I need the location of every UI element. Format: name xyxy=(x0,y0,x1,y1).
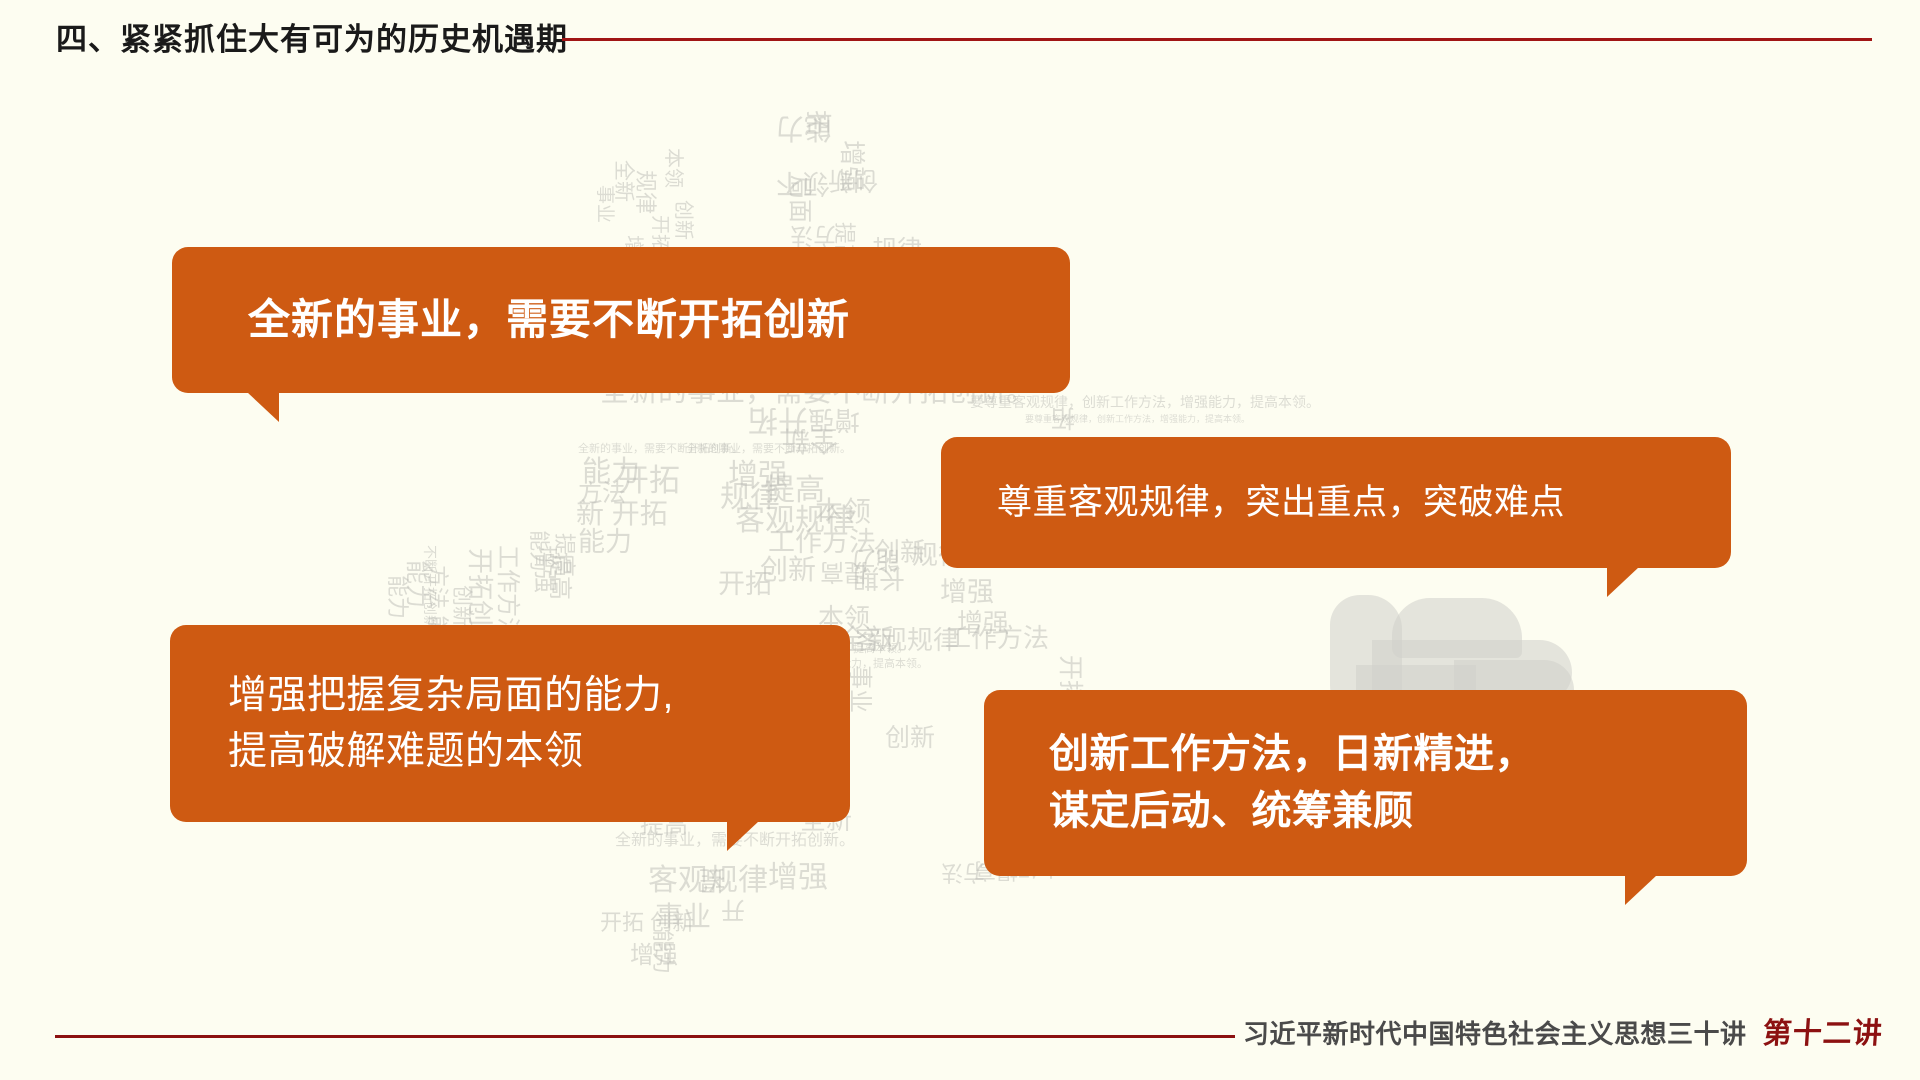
word-cloud-term: 局面 xyxy=(785,175,820,223)
word-cloud-term: 开拓 创新 xyxy=(600,905,694,937)
speech-bubble-4-text: 创新工作方法，日新精进， 谋定后动、统筹兼顾 xyxy=(1049,726,1535,840)
word-cloud-term: 增强 xyxy=(808,403,860,440)
word-cloud-term: 提高 xyxy=(545,552,580,600)
word-cloud-term: 创新 xyxy=(448,585,478,627)
word-cloud-term: 提高 xyxy=(820,557,868,592)
speech-bubble-2-tail xyxy=(1607,567,1639,597)
word-cloud-term: 新 开拓 xyxy=(576,492,668,532)
word-cloud-term: 全新的事业，需要不断开拓创新。 xyxy=(686,440,851,456)
word-cloud-term: 能力 xyxy=(582,448,640,490)
word-cloud-term: 要尊重客观规律，创新工作方法，增强能力，提高本领。 xyxy=(1025,412,1250,425)
slide-header: 四、紧紧抓住大有可为的历史机遇期 xyxy=(0,0,1920,78)
speech-bubble-1-text: 全新的事业，需要不断开拓创新 xyxy=(248,290,850,350)
word-cloud-term: 创新 xyxy=(885,718,935,754)
word-cloud-term: 客观规律 xyxy=(735,495,855,539)
word-cloud-term: 能力 xyxy=(383,575,415,619)
word-cloud-term: 能力 xyxy=(776,110,832,150)
word-cloud-term: 能力 xyxy=(525,530,555,572)
word-cloud-term: 开拓 xyxy=(618,455,680,500)
word-cloud-term: 规律 xyxy=(720,472,780,516)
word-cloud-term: 开拓 xyxy=(718,562,772,601)
word-cloud-term: 创新 xyxy=(760,548,816,588)
word-cloud-term: 能力 xyxy=(648,930,680,974)
word-cloud-term: 能力 xyxy=(578,520,632,559)
word-cloud-term: 能力 xyxy=(852,545,900,580)
speech-bubble-3-text: 增强把握复杂局面的能力, 提高破解难题的本领 xyxy=(228,668,674,779)
word-cloud-term: 方法 xyxy=(941,858,985,890)
word-cloud-term: 创新 xyxy=(671,200,700,240)
word-cloud-term: 增强 xyxy=(957,603,1009,640)
word-cloud-term: 增强 xyxy=(940,570,994,609)
word-cloud-term: 规律 xyxy=(631,170,663,214)
footer-lecture-number: 第十二讲 xyxy=(1762,1010,1885,1052)
speech-bubble-2-text: 尊重客观规律，突出重点，突破难点 xyxy=(997,478,1565,528)
word-cloud-term: 增强 xyxy=(530,545,565,593)
word-cloud-term: 增强 xyxy=(835,140,872,192)
speech-bubble-3-tail xyxy=(727,821,759,851)
speech-bubble-3[interactable]: 增强把握复杂局面的能力, 提高破解难题的本领 xyxy=(170,625,850,822)
speech-bubble-4[interactable]: 创新工作方法，日新精进， 谋定后动、统筹兼顾 xyxy=(984,690,1747,876)
footer-divider-line xyxy=(55,1035,1235,1038)
word-cloud-term: 全新的事业，需要不断开拓创新。 xyxy=(578,440,743,456)
header-divider-line xyxy=(562,38,1872,41)
word-cloud-term: 工作方法 xyxy=(945,618,1049,655)
word-cloud-silhouette-2 xyxy=(1392,598,1522,658)
speech-bubble-1[interactable]: 全新的事业，需要不断开拓创新 xyxy=(172,247,1070,393)
word-cloud-term: 客观规律 xyxy=(855,620,959,657)
word-cloud-term: 增强 xyxy=(728,450,788,494)
word-cloud-term: 开拓 xyxy=(748,401,808,445)
page-title: 四、紧紧抓住大有可为的历史机遇期 xyxy=(56,14,568,59)
word-cloud-term: 长期 xyxy=(853,561,905,598)
speech-bubble-1-tail xyxy=(247,392,279,422)
speech-bubble-4-tail xyxy=(1625,875,1657,905)
word-cloud-term: 本领 xyxy=(661,148,690,188)
word-cloud-term: 领不 xyxy=(776,166,830,205)
word-cloud-term: 全新 xyxy=(610,160,640,202)
speech-bubble-2[interactable]: 尊重客观规律，突出重点，突破难点 xyxy=(941,437,1731,568)
word-cloud-term: 本领 xyxy=(815,490,871,530)
word-cloud-term: 提高 xyxy=(550,533,582,577)
word-cloud-term: 事业 xyxy=(845,665,880,713)
word-cloud-term: 工作方法 xyxy=(768,520,876,559)
word-cloud-term: 要尊重客观规律，创新工作方法，增强能力，提高本领。 xyxy=(970,392,1320,412)
word-cloud-term: 客观规律 xyxy=(648,855,768,899)
word-cloud-term: 能力，提高本领。 xyxy=(840,655,928,671)
word-cloud-term: 方法 xyxy=(578,473,626,508)
word-cloud-term: 开 xyxy=(721,895,745,930)
word-cloud-term: 提 xyxy=(699,863,725,900)
word-cloud-term: 全新 xyxy=(782,422,838,462)
word-cloud-term: 拓 xyxy=(801,110,838,136)
word-cloud-term: 事业 xyxy=(593,185,620,223)
slide-canvas: 拓能力局面增强领不创新提高方法规律本领规律全新事业创新开拓增强能力本领提高全新 … xyxy=(0,0,1920,1080)
word-cloud-term: 创新 xyxy=(828,164,878,200)
word-cloud-term: 事业 xyxy=(655,895,711,935)
word-cloud-term: 能力 xyxy=(402,560,437,608)
word-cloud-term: 拓 xyxy=(1051,403,1075,438)
word-cloud-term: 增强 xyxy=(768,852,828,896)
footer-series-title: 习近平新时代中国特色社会主义思想三十讲 xyxy=(1243,1014,1747,1051)
word-cloud-term: 增强 xyxy=(630,935,678,970)
word-cloud-term: 提高 xyxy=(765,465,825,509)
word-cloud-term: 创新 xyxy=(874,532,926,569)
